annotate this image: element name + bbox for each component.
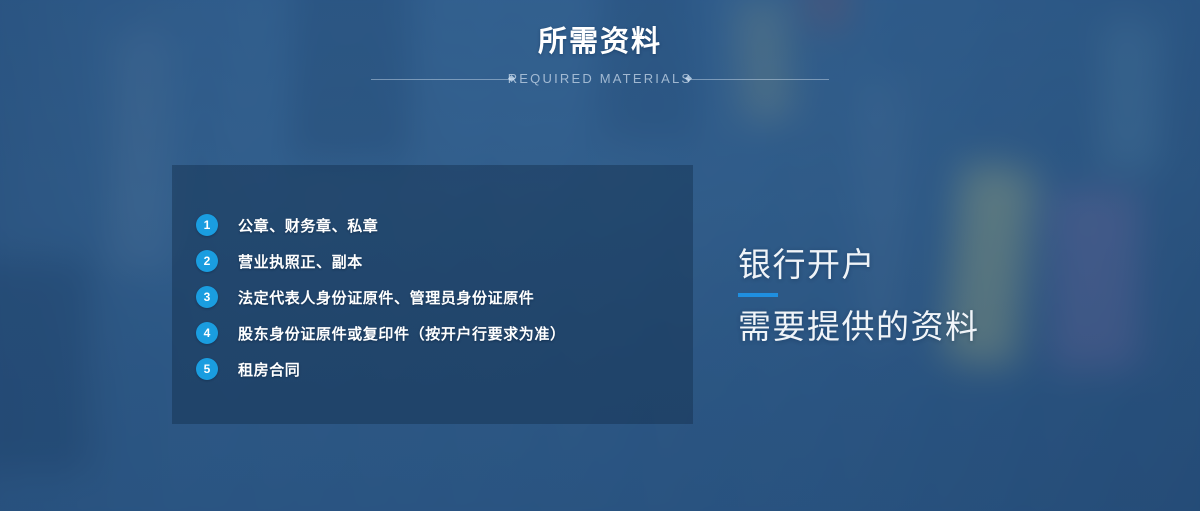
list-item-label: 法定代表人身份证原件、管理员身份证原件 bbox=[238, 287, 534, 308]
banner-header: 所需资料 REQUIRED MATERIALS bbox=[0, 24, 1200, 89]
list-item: 2 营业执照正、副本 bbox=[196, 243, 566, 279]
required-materials-banner: 所需资料 REQUIRED MATERIALS 1 公章、财务章、私章 2 营业… bbox=[0, 0, 1200, 511]
list-item: 5 租房合同 bbox=[196, 351, 566, 387]
list-item: 1 公章、财务章、私章 bbox=[196, 207, 566, 243]
headline-block: 银行开户 需要提供的资料 bbox=[738, 243, 980, 349]
list-number-badge: 4 bbox=[196, 322, 218, 344]
list-item-label: 租房合同 bbox=[238, 359, 300, 380]
headline-line-1: 银行开户 bbox=[738, 243, 980, 287]
list-number-badge: 1 bbox=[196, 214, 218, 236]
list-item: 3 法定代表人身份证原件、管理员身份证原件 bbox=[196, 279, 566, 315]
decorative-line-left bbox=[371, 79, 511, 80]
list-item-label: 股东身份证原件或复印件（按开户行要求为准） bbox=[238, 323, 566, 344]
list-number-badge: 3 bbox=[196, 286, 218, 308]
headline-line-2: 需要提供的资料 bbox=[738, 305, 980, 349]
materials-panel: 1 公章、财务章、私章 2 营业执照正、副本 3 法定代表人身份证原件、管理员身… bbox=[172, 165, 693, 424]
page-subtitle: REQUIRED MATERIALS bbox=[508, 69, 693, 89]
list-item: 4 股东身份证原件或复印件（按开户行要求为准） bbox=[196, 315, 566, 351]
list-item-label: 公章、财务章、私章 bbox=[238, 215, 378, 236]
page-title: 所需资料 bbox=[0, 24, 1200, 60]
list-number-badge: 5 bbox=[196, 358, 218, 380]
decorative-line-right bbox=[689, 79, 829, 80]
list-number-badge: 2 bbox=[196, 250, 218, 272]
subtitle-row: REQUIRED MATERIALS bbox=[0, 69, 1200, 89]
list-item-label: 营业执照正、副本 bbox=[238, 251, 363, 272]
materials-list: 1 公章、财务章、私章 2 营业执照正、副本 3 法定代表人身份证原件、管理员身… bbox=[196, 207, 566, 387]
headline-accent-bar bbox=[738, 293, 778, 297]
